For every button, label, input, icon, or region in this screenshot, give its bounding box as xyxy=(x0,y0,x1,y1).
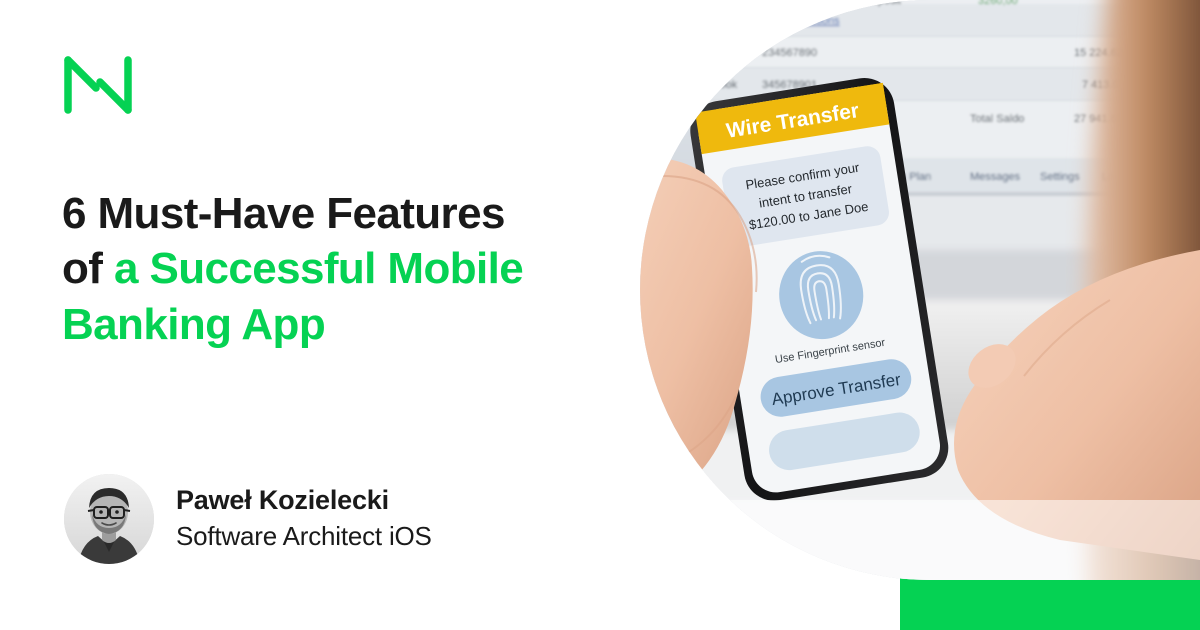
page-title: 6 Must-Have Features of a Successful Mob… xyxy=(62,186,602,352)
headline-line-2: of a Successful Mobile xyxy=(62,241,602,296)
headline-line-2-dark: of xyxy=(62,244,114,293)
headline-line-3: Banking App xyxy=(62,297,602,352)
author-text: Paweł Kozielecki Software Architect iOS xyxy=(176,484,432,554)
hero-photo-illustration: 28.04.2015 Direct Deposit 3260,00 All Tr… xyxy=(640,0,1200,580)
svg-text:Settings: Settings xyxy=(1040,171,1080,183)
nordcode-n-logo-icon xyxy=(62,56,134,114)
hero-photo: 28.04.2015 Direct Deposit 3260,00 All Tr… xyxy=(640,0,1200,580)
headline-line-1: 6 Must-Have Features xyxy=(62,186,602,241)
author-name: Paweł Kozielecki xyxy=(176,484,432,518)
headline-line-2-green: a Successful Mobile xyxy=(114,244,523,293)
author-role: Software Architect iOS xyxy=(176,520,432,554)
svg-text:3260,00: 3260,00 xyxy=(978,0,1018,7)
author-block: Paweł Kozielecki Software Architect iOS xyxy=(64,474,432,564)
svg-text:All Transactions: All Transactions xyxy=(762,15,840,27)
svg-text:Savings Book: Savings Book xyxy=(670,79,738,91)
content-column: 6 Must-Have Features of a Successful Mob… xyxy=(0,0,640,630)
svg-text:Total Saldo: Total Saldo xyxy=(970,113,1024,125)
svg-text:28.04.2015: 28.04.2015 xyxy=(762,0,817,7)
svg-text:Direct Deposit: Direct Deposit xyxy=(832,0,901,7)
avatar xyxy=(64,474,154,564)
svg-text:Messages: Messages xyxy=(970,171,1021,183)
svg-text:Saving Account: Saving Account xyxy=(670,47,746,59)
brand-logo[interactable] xyxy=(62,56,134,114)
social-share-card: 28.04.2015 Direct Deposit 3260,00 All Tr… xyxy=(0,0,1200,630)
svg-text:234567890: 234567890 xyxy=(762,47,817,59)
author-portrait-icon xyxy=(64,474,154,564)
